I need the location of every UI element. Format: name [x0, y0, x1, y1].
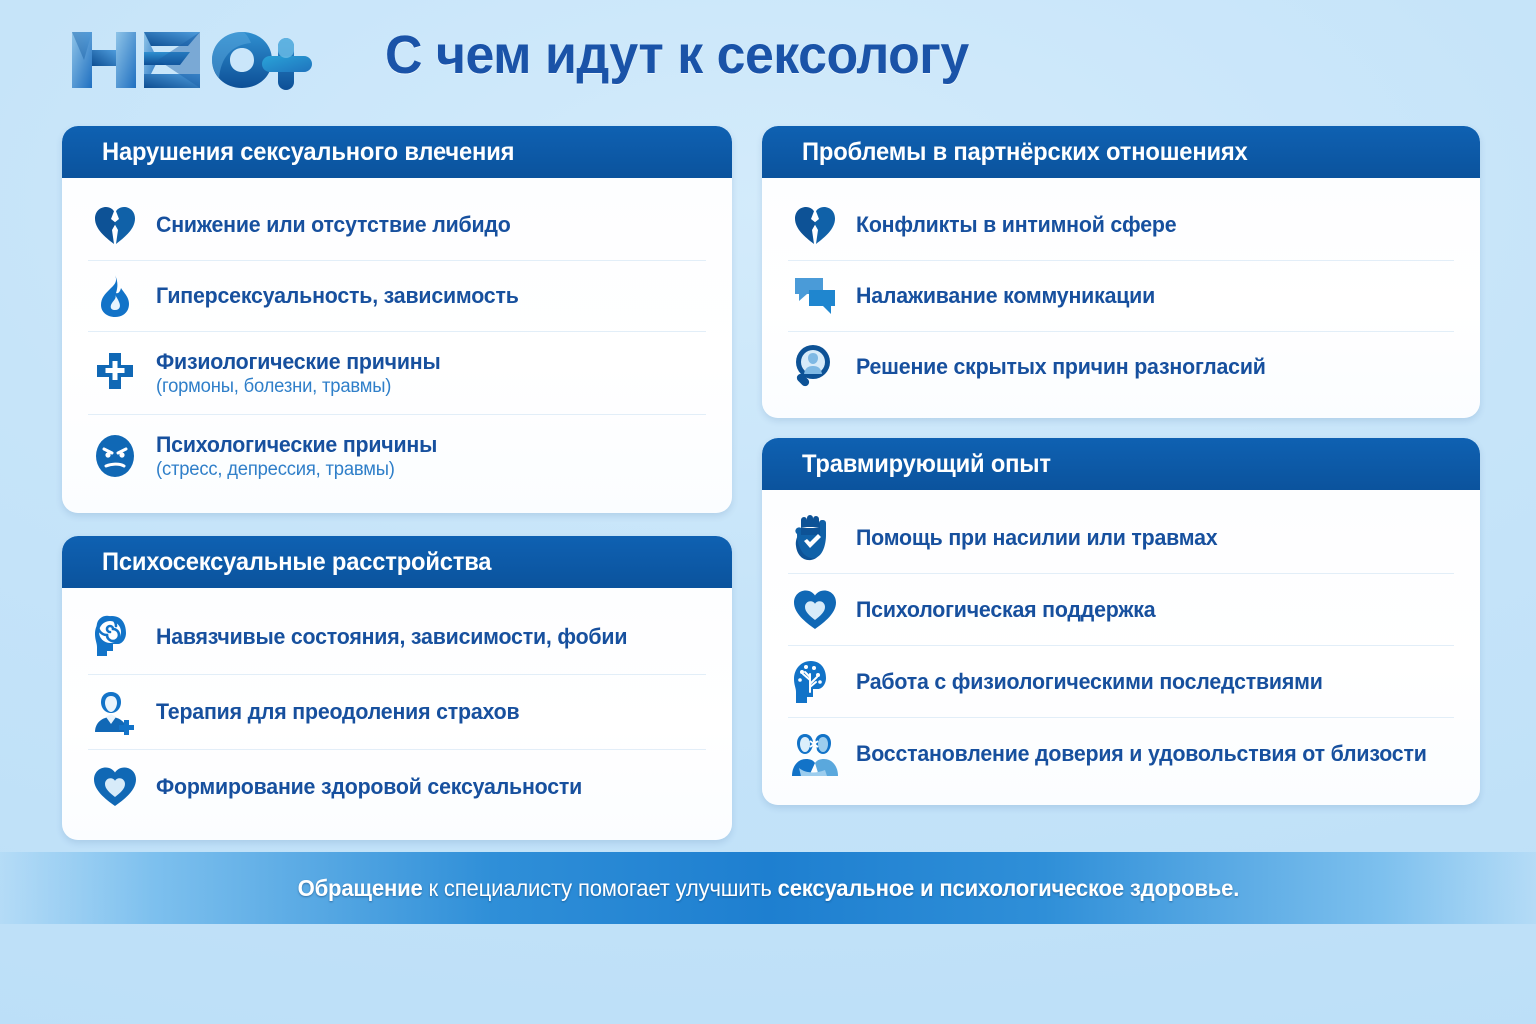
magnifier-person-icon — [788, 340, 842, 394]
list-item[interactable]: Решение скрытых причин разногласий — [788, 332, 1454, 402]
card-psychosexual-disorders: Психосексуальные расстройства Навязчивые… — [62, 536, 732, 840]
list-item[interactable]: Работа с физиологическими последствиями — [788, 646, 1454, 718]
head-tree-icon — [788, 655, 842, 709]
list-item-sublabel: (гормоны, болезни, травмы) — [156, 376, 441, 398]
card-partner-relationship-problems: Проблемы в партнёрских отношениях Конфли… — [762, 126, 1480, 418]
list-item-label: Конфликты в интимной сфере — [856, 212, 1176, 238]
card-header: Психосексуальные расстройства — [62, 536, 732, 588]
hand-stop-check-icon — [788, 511, 842, 565]
list-item[interactable]: Восстановление доверия и удовольствия от… — [788, 718, 1454, 789]
footer-lead: Обращение — [297, 875, 422, 901]
list-item[interactable]: Помощь при насилии или травмах — [788, 502, 1454, 574]
footer-banner: Обращение к специалисту помогает улучшит… — [0, 852, 1536, 924]
card-header: Нарушения сексуального влечения — [62, 126, 732, 178]
list-item[interactable]: Навязчивые состояния, зависимости, фобии — [88, 600, 706, 675]
card-body: Навязчивые состояния, зависимости, фобии… — [62, 588, 732, 840]
list-item-label: Гиперсексуальность, зависимость — [156, 283, 519, 309]
list-item[interactable]: Формирование здоровой сексуальности — [88, 750, 706, 824]
card-header: Проблемы в партнёрских отношениях — [762, 126, 1480, 178]
list-item-label: Психологические причины — [156, 432, 437, 458]
list-item[interactable]: Конфликты в интимной сфере — [788, 190, 1454, 261]
person-plus-icon — [88, 685, 142, 739]
list-item[interactable]: Терапия для преодоления страхов — [88, 675, 706, 750]
head-spiral-icon — [88, 610, 142, 664]
list-item[interactable]: Налаживание коммуникации — [788, 261, 1454, 332]
list-item-label: Налаживание коммуникации — [856, 283, 1155, 309]
infographic-page: С чем идут к сексологу Нарушения сексуал… — [0, 0, 1536, 1024]
heart-inner-icon — [788, 583, 842, 637]
list-item-label: Терапия для преодоления страхов — [156, 699, 519, 725]
broken-heart-icon — [788, 198, 842, 252]
list-item[interactable]: Снижение или отсутствие либидо — [88, 190, 706, 261]
heart-inner-icon — [88, 760, 142, 814]
list-item-label: Снижение или отсутствие либидо — [156, 212, 511, 238]
speech-bubbles-icon — [788, 269, 842, 323]
card-title: Психосексуальные расстройства — [102, 548, 491, 577]
card-title: Нарушения сексуального влечения — [102, 138, 514, 167]
list-item-label: Физиологические причины — [156, 349, 441, 375]
list-item[interactable]: Гиперсексуальность, зависимость — [88, 261, 706, 332]
list-item[interactable]: Психологическая поддержка — [788, 574, 1454, 646]
list-item-label: Помощь при насилии или травмах — [856, 525, 1217, 551]
medical-cross-icon — [88, 346, 142, 400]
couple-embrace-icon — [788, 727, 842, 781]
list-item-sublabel: (стресс, депрессия, травмы) — [156, 459, 437, 481]
flame-icon — [88, 269, 142, 323]
list-item-label: Решение скрытых причин разногласий — [856, 354, 1266, 380]
card-body: Снижение или отсутствие либидо Гиперсекс… — [62, 178, 732, 513]
card-sexual-desire-disorders: Нарушения сексуального влечения Снижение… — [62, 126, 732, 513]
card-traumatic-experience: Травмирующий опыт Помощь при насилии или… — [762, 438, 1480, 805]
neo-plus-logo-icon — [60, 18, 320, 98]
card-body: Конфликты в интимной сфере Налаживание к… — [762, 178, 1480, 418]
list-item-label: Восстановление доверия и удовольствия от… — [856, 741, 1427, 767]
card-body: Помощь при насилии или травмах Психологи… — [762, 490, 1480, 805]
list-item[interactable]: Физиологические причины (гормоны, болезн… — [88, 332, 706, 415]
card-title: Травмирующий опыт — [802, 450, 1051, 479]
broken-heart-icon — [88, 198, 142, 252]
card-title: Проблемы в партнёрских отношениях — [802, 138, 1248, 167]
list-item-label: Работа с физиологическими последствиями — [856, 669, 1323, 695]
page-title: С чем идут к сексологу — [385, 24, 969, 86]
list-item-label: Навязчивые состояния, зависимости, фобии — [156, 624, 627, 650]
footer-emphasis: сексуальное и психологическое здоровье. — [777, 875, 1239, 901]
card-header: Травмирующий опыт — [762, 438, 1480, 490]
list-item-label: Формирование здоровой сексуальности — [156, 774, 582, 800]
list-item-label: Психологическая поддержка — [856, 597, 1155, 623]
sad-face-icon — [88, 429, 142, 483]
list-item[interactable]: Психологические причины (стресс, депресс… — [88, 415, 706, 497]
footer-middle: к специалисту помогает улучшить — [422, 875, 777, 901]
footer-text: Обращение к специалисту помогает улучшит… — [297, 875, 1239, 902]
